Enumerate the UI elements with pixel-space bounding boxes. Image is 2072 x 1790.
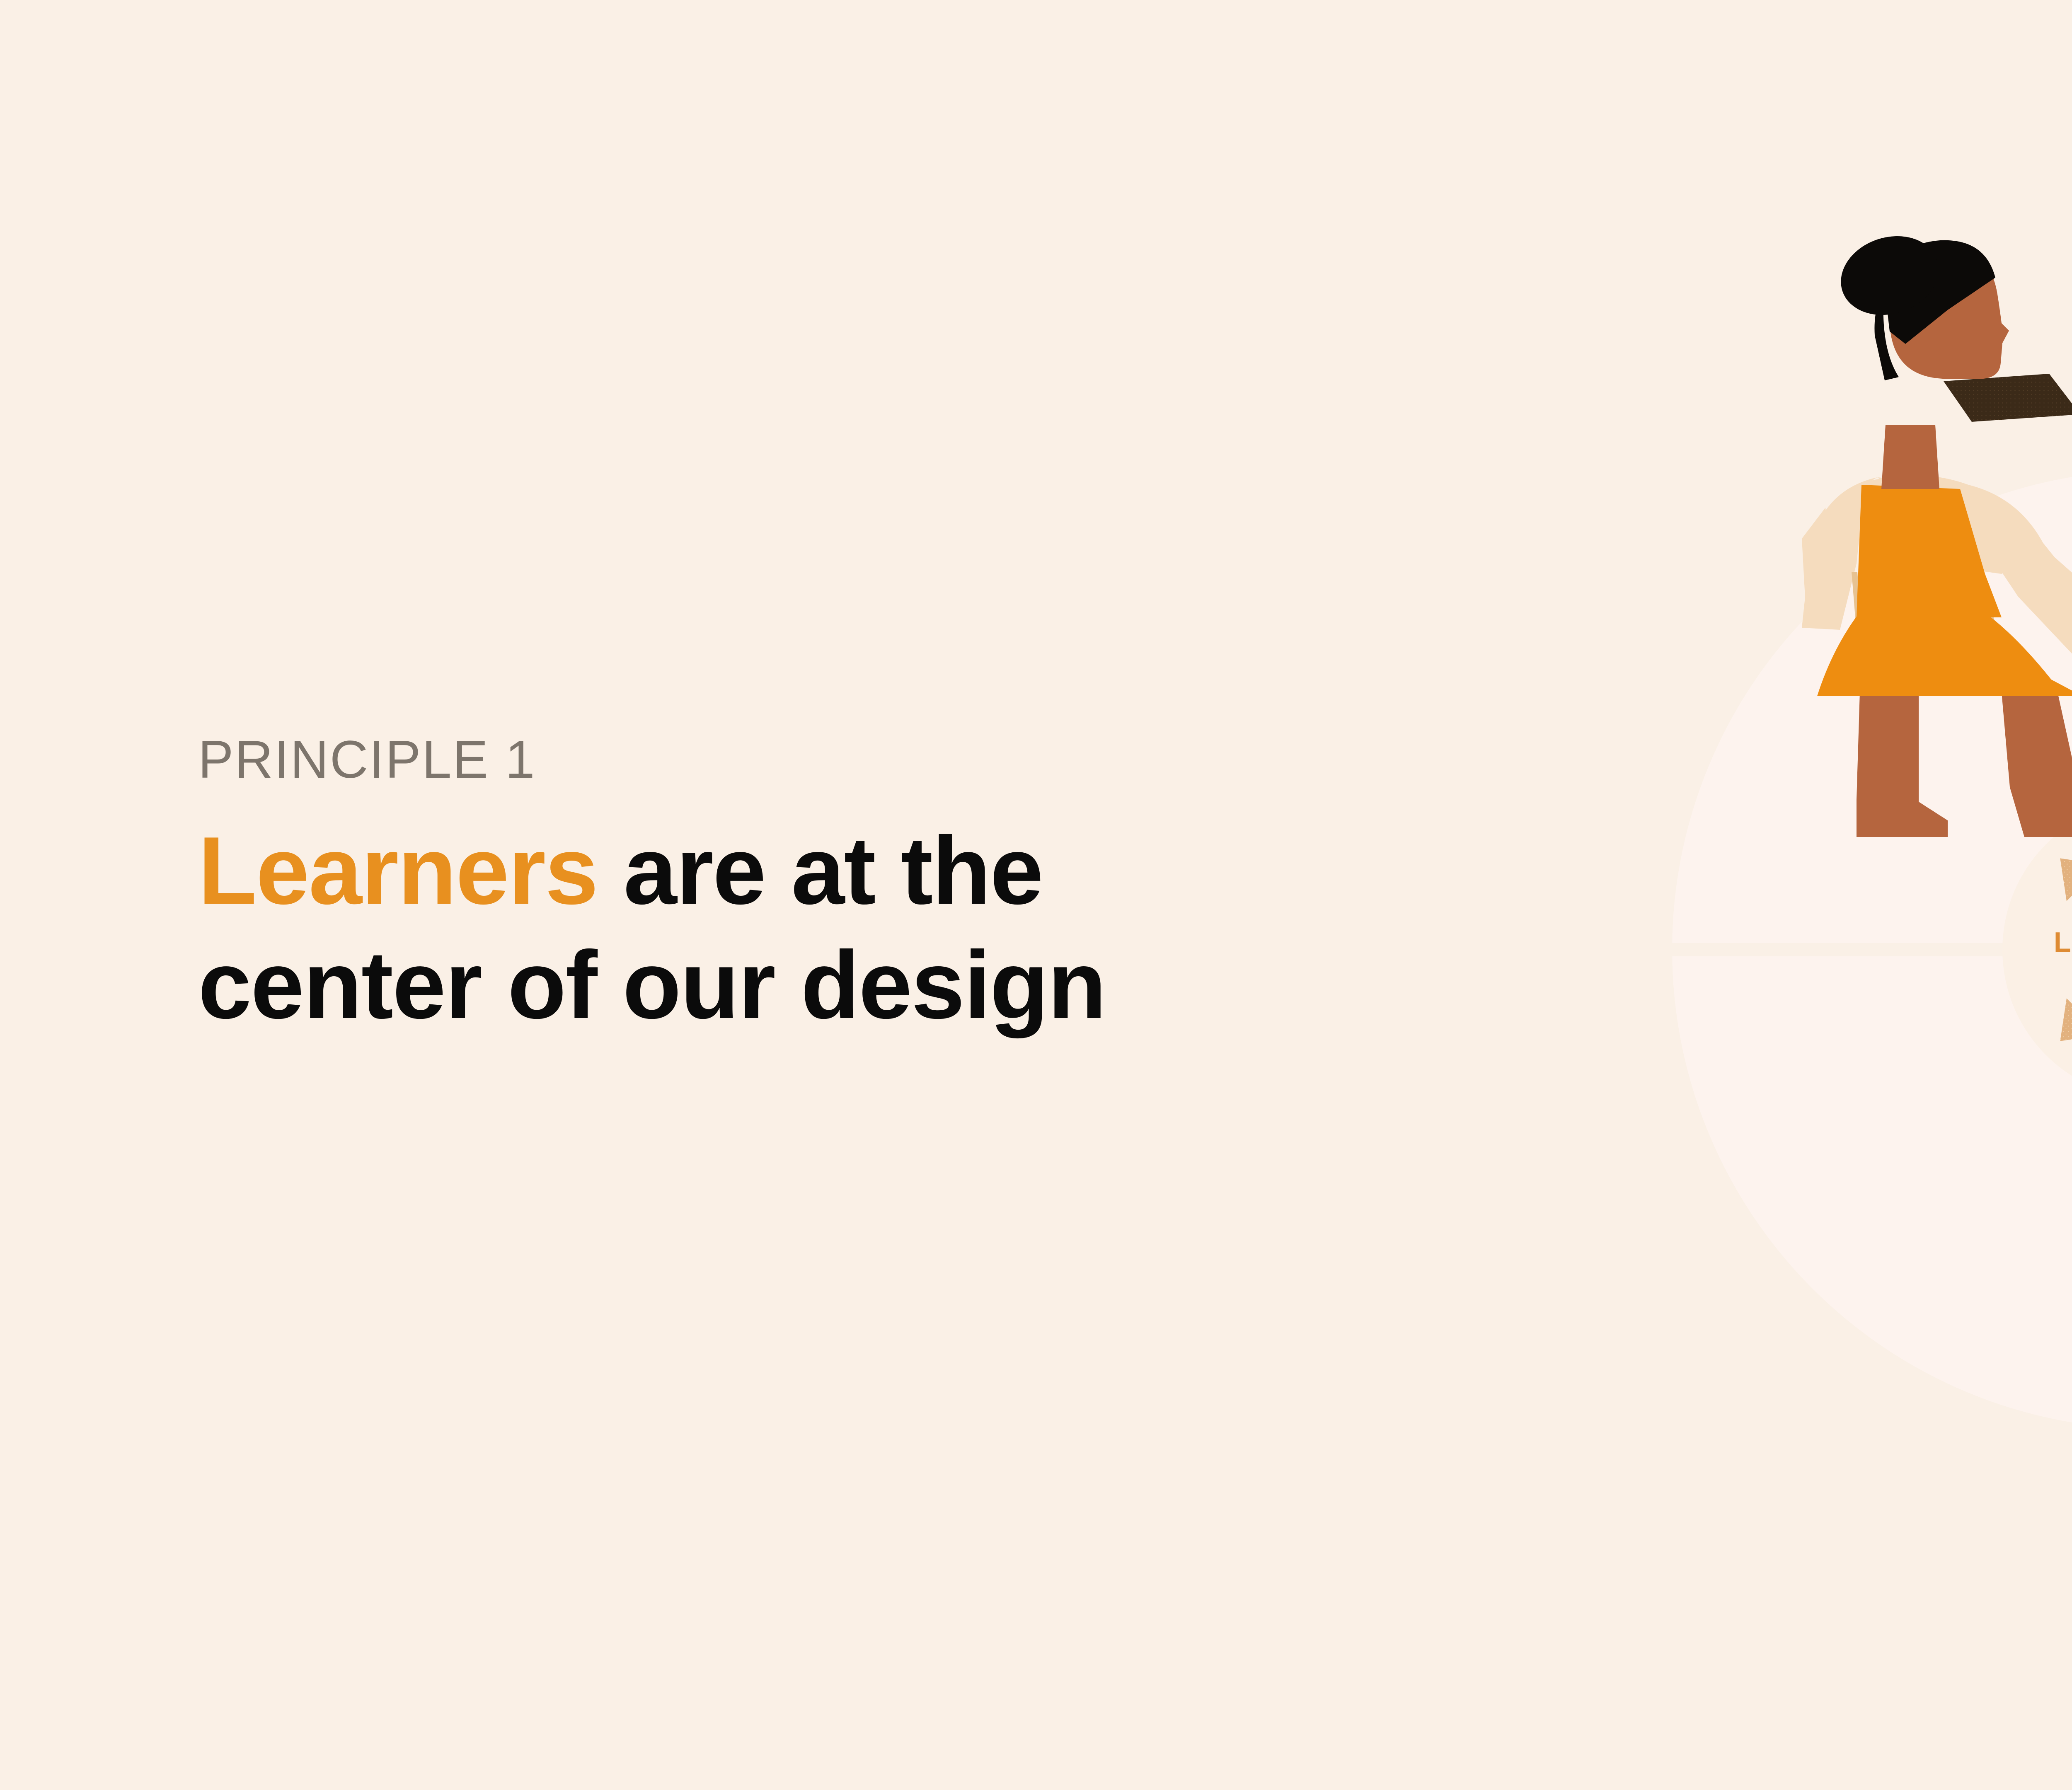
figure-strap-right bbox=[1944, 489, 1960, 615]
figure-hair-bun bbox=[1830, 224, 1949, 327]
figure-neck bbox=[1881, 425, 1939, 489]
page-title: Learners are at thecenter of our design bbox=[198, 814, 1483, 1043]
woman-with-laptop-illustration bbox=[1802, 224, 2072, 837]
principle-eyebrow: PRINCIPLE 1 bbox=[198, 733, 1483, 786]
figure-strap-accent-left bbox=[1852, 572, 1861, 622]
figure-hair-cap bbox=[1886, 240, 1995, 344]
left-text-block: PRINCIPLE 1 Learners are at thecenter of… bbox=[198, 733, 1483, 1043]
figure-back-arm bbox=[1802, 508, 1838, 628]
figure-top bbox=[1802, 477, 2072, 671]
figure-head bbox=[1890, 245, 2009, 379]
figure-dress-bodice bbox=[1857, 485, 2002, 617]
figure-back-leg bbox=[1857, 692, 1948, 837]
headline-line2: center of our design bbox=[198, 931, 1106, 1039]
figure-dress-skirt bbox=[1817, 615, 2072, 696]
figure-shoulders bbox=[1859, 475, 2045, 574]
figure-front-leg bbox=[2002, 692, 2072, 837]
figure-strap-left bbox=[1871, 489, 1886, 613]
center-label-learners: LEARNERS bbox=[1906, 928, 2072, 956]
figure-strap-accent-right bbox=[1977, 583, 1997, 630]
slide-canvas: PRINCIPLE 1 Learners are at thecenter of… bbox=[0, 0, 2072, 1790]
headline-accent-word: Learners bbox=[198, 817, 598, 924]
figure-forearm bbox=[2026, 547, 2072, 662]
figure-hair-back bbox=[1874, 294, 1899, 380]
figure-laptop-screen bbox=[1944, 374, 2072, 422]
headline-line1-rest: are at the bbox=[598, 817, 1043, 924]
up-left-double-arrow bbox=[2042, 840, 2072, 941]
down-left-double-arrow bbox=[2042, 958, 2072, 1059]
wheel-segment-upper-left bbox=[1672, 464, 2072, 943]
wheel-segment-lower-left bbox=[1672, 956, 2072, 1429]
figure-dress bbox=[1828, 618, 2072, 694]
